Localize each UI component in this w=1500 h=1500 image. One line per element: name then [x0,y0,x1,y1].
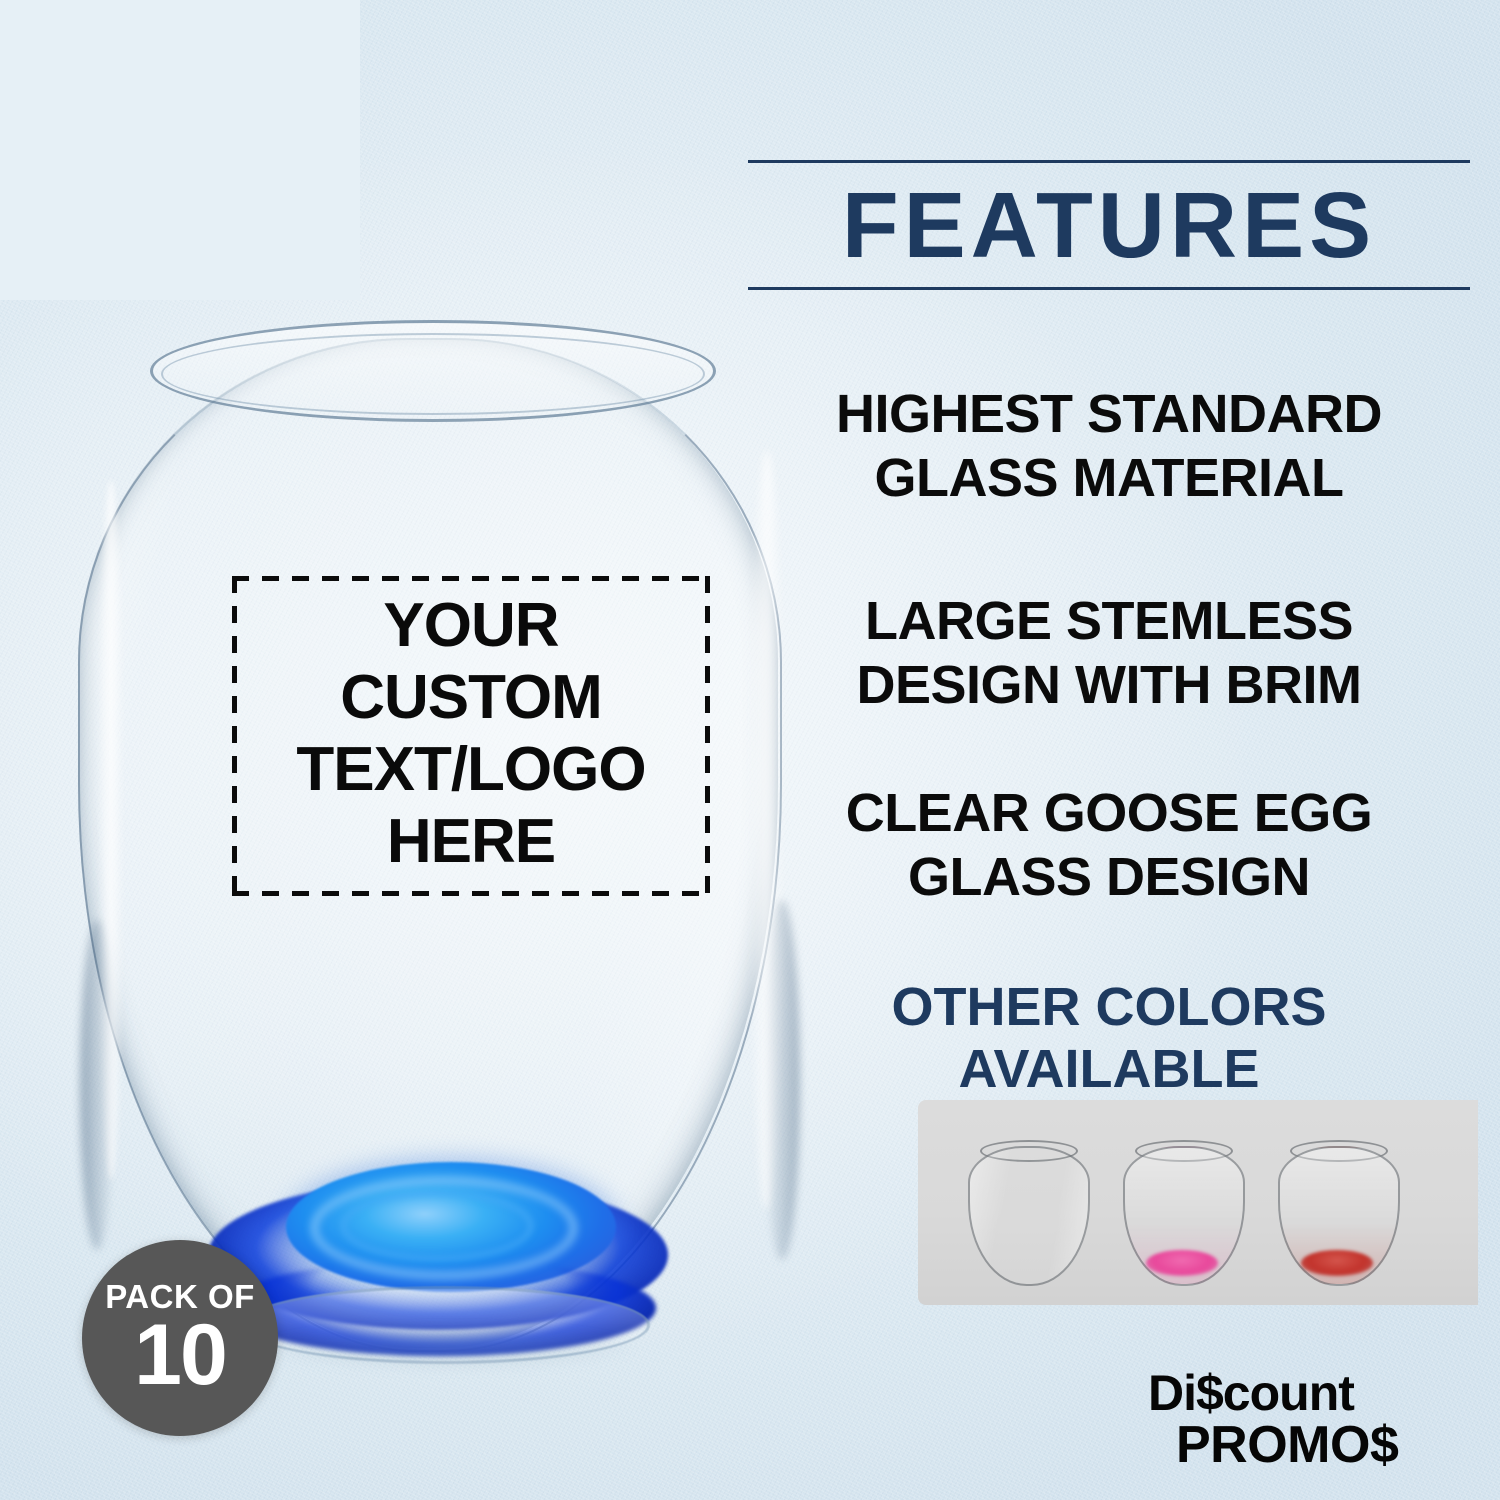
feature-1-line-2: GLASS MATERIAL [748,446,1470,510]
other-colors-line-2: AVAILABLE [748,1038,1470,1100]
feature-item-3: CLEAR GOOSE EGG GLASS DESIGN [748,781,1470,909]
brand-logo-line-2: PROMO$ [1140,1419,1470,1472]
glass-rim-inner [161,333,705,415]
brand-logo: Di$count PROMO$ [1140,1368,1470,1472]
feature-item-2: LARGE STEMLESS DESIGN WITH BRIM [748,589,1470,717]
corner-arc-cutout [0,0,360,300]
brand-logo-line-1: Di$count [1140,1368,1470,1419]
imprint-line-2: CUSTOM [232,662,710,734]
feature-1-line-1: HIGHEST STANDARD [748,382,1470,446]
product-infographic: YOUR CUSTOM TEXT/LOGO HERE PACK OF 10 FE… [0,0,1500,1500]
feature-3-line-2: GLASS DESIGN [748,845,1470,909]
glass-base-swirl-inner [340,1190,534,1262]
feature-2-line-1: LARGE STEMLESS [748,589,1470,653]
swatch-glass-red[interactable] [1278,1132,1396,1282]
feature-2-line-2: DESIGN WITH BRIM [748,653,1470,717]
features-heading: FEATURES [748,173,1470,277]
glass-drop-shadow [258,1330,638,1370]
swatch-glass-pink[interactable] [1123,1132,1241,1282]
swatch-clear-body [968,1146,1090,1286]
feature-item-1: HIGHEST STANDARD GLASS MATERIAL [748,382,1470,510]
customization-area[interactable]: YOUR CUSTOM TEXT/LOGO HERE [232,576,710,896]
feature-3-line-1: CLEAR GOOSE EGG [748,781,1470,845]
swatch-glass-clear[interactable] [968,1132,1086,1282]
other-colors-heading: OTHER COLORS AVAILABLE [748,976,1470,1100]
navy-corner-accent [0,0,360,300]
other-colors-line-1: OTHER COLORS [748,976,1470,1038]
color-swatch-strip [918,1100,1478,1305]
features-rule-top [748,160,1470,163]
pack-quantity-badge: PACK OF 10 [82,1240,278,1436]
imprint-line-3: TEXT/LOGO [232,734,710,806]
features-rule-bottom [748,287,1470,290]
swatch-red-base [1301,1250,1373,1276]
imprint-line-1: YOUR [232,590,710,662]
pack-badge-quantity: 10 [134,1315,226,1397]
imprint-text-block: YOUR CUSTOM TEXT/LOGO HERE [232,590,710,878]
imprint-line-4: HERE [232,806,710,878]
glass-shadow-left [80,920,114,1250]
features-column: FEATURES HIGHEST STANDARD GLASS MATERIAL… [748,0,1474,1500]
swatch-pink-base [1146,1250,1218,1276]
